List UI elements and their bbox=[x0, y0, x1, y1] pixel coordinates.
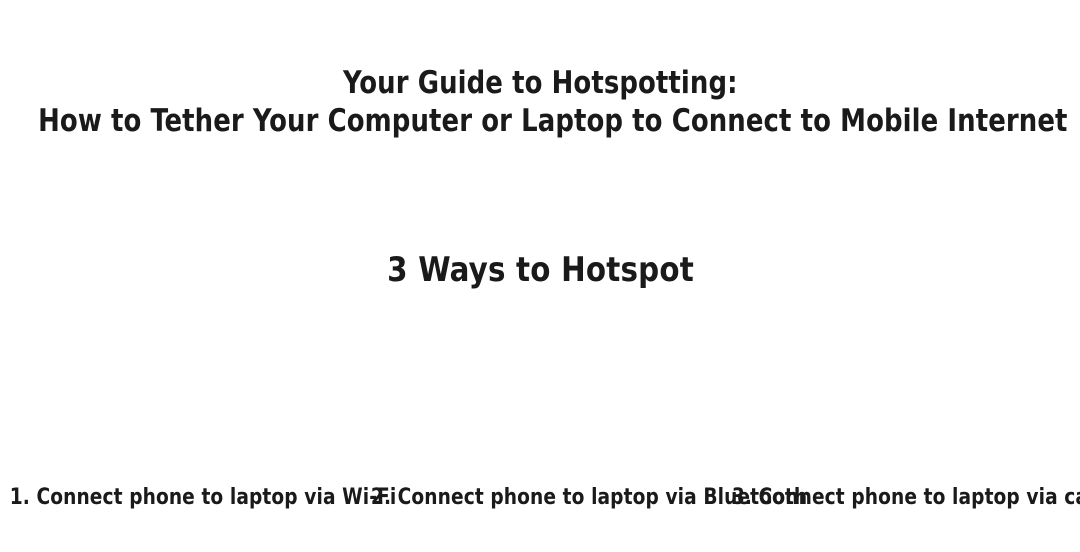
phone-to-laptop-bluetooth-illustration bbox=[420, 275, 720, 455]
phone-to-laptop-cable-illustration bbox=[800, 275, 1080, 455]
phone-to-laptop-wifi-illustration bbox=[40, 275, 340, 455]
article-page: Your Guide to Hotspotting: How to Tether… bbox=[0, 0, 1080, 552]
method-figure bbox=[40, 269, 340, 461]
method-caption-cable: 3. Connect phone to laptop via cable bbox=[732, 485, 1070, 511]
methods-gallery bbox=[0, 285, 1080, 477]
method-figure bbox=[420, 269, 720, 461]
page-title-line-2: How to Tether Your Computer or Laptop to… bbox=[38, 102, 1042, 140]
method-caption-wifi: 1. Connect phone to laptop via Wi-Fi bbox=[10, 485, 348, 511]
method-figure bbox=[800, 269, 1080, 461]
method-captions-row: 1. Connect phone to laptop via Wi-Fi 2. … bbox=[0, 485, 1080, 515]
page-title-line-1: Your Guide to Hotspotting: bbox=[38, 64, 1042, 102]
method-caption-bluetooth: 2. Connect phone to laptop via Bluetooth bbox=[371, 485, 709, 511]
page-title: Your Guide to Hotspotting: How to Tether… bbox=[38, 64, 1042, 140]
